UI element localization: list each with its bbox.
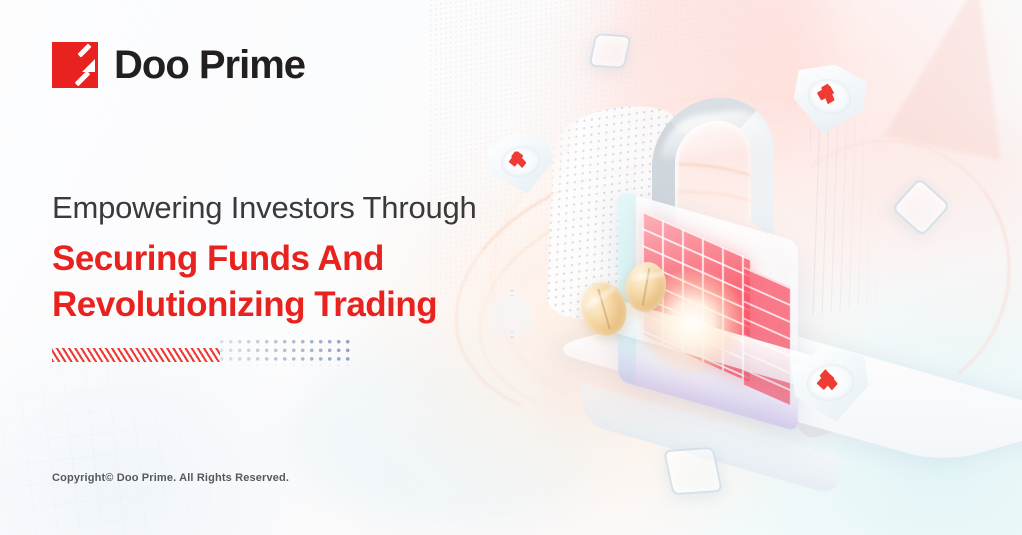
shield-body — [789, 343, 873, 427]
logo-slash-bottom — [75, 71, 91, 87]
shield-check-badge-top-right — [788, 58, 869, 139]
cube-face — [588, 33, 631, 69]
shield-body — [788, 58, 869, 139]
hexagon-outline-icon — [488, 290, 536, 338]
logo-slash-mid — [82, 59, 95, 72]
cube-face — [891, 177, 950, 236]
brand-name: Doo Prime — [114, 45, 305, 85]
shield-body — [484, 126, 558, 200]
ribbed-panel — [810, 113, 890, 317]
glass-cube-right — [891, 177, 950, 236]
glass-cube-bottom — [663, 447, 723, 496]
shield-check-badge-left — [484, 126, 558, 200]
doo-prime-logo-mark-icon — [52, 42, 98, 88]
divider-dot-matrix — [220, 340, 352, 366]
cube-face — [663, 447, 723, 496]
hexagon-wireframe — [488, 290, 536, 338]
shield-check-badge-bottom-right — [789, 343, 873, 427]
hero-illustration — [430, 0, 1022, 535]
decorative-divider — [52, 340, 352, 366]
divider-hatch-bar — [52, 348, 220, 362]
logo-slash-top — [77, 43, 91, 57]
promo-banner: Doo Prime Empowering Investors Through S… — [0, 0, 1022, 535]
brand-logo: Doo Prime — [52, 42, 305, 88]
copyright-text: Copyright© Doo Prime. All Rights Reserve… — [52, 472, 289, 484]
glass-cube-top — [588, 33, 631, 69]
coin-highlight — [584, 285, 617, 310]
glass-padlock — [618, 98, 808, 398]
